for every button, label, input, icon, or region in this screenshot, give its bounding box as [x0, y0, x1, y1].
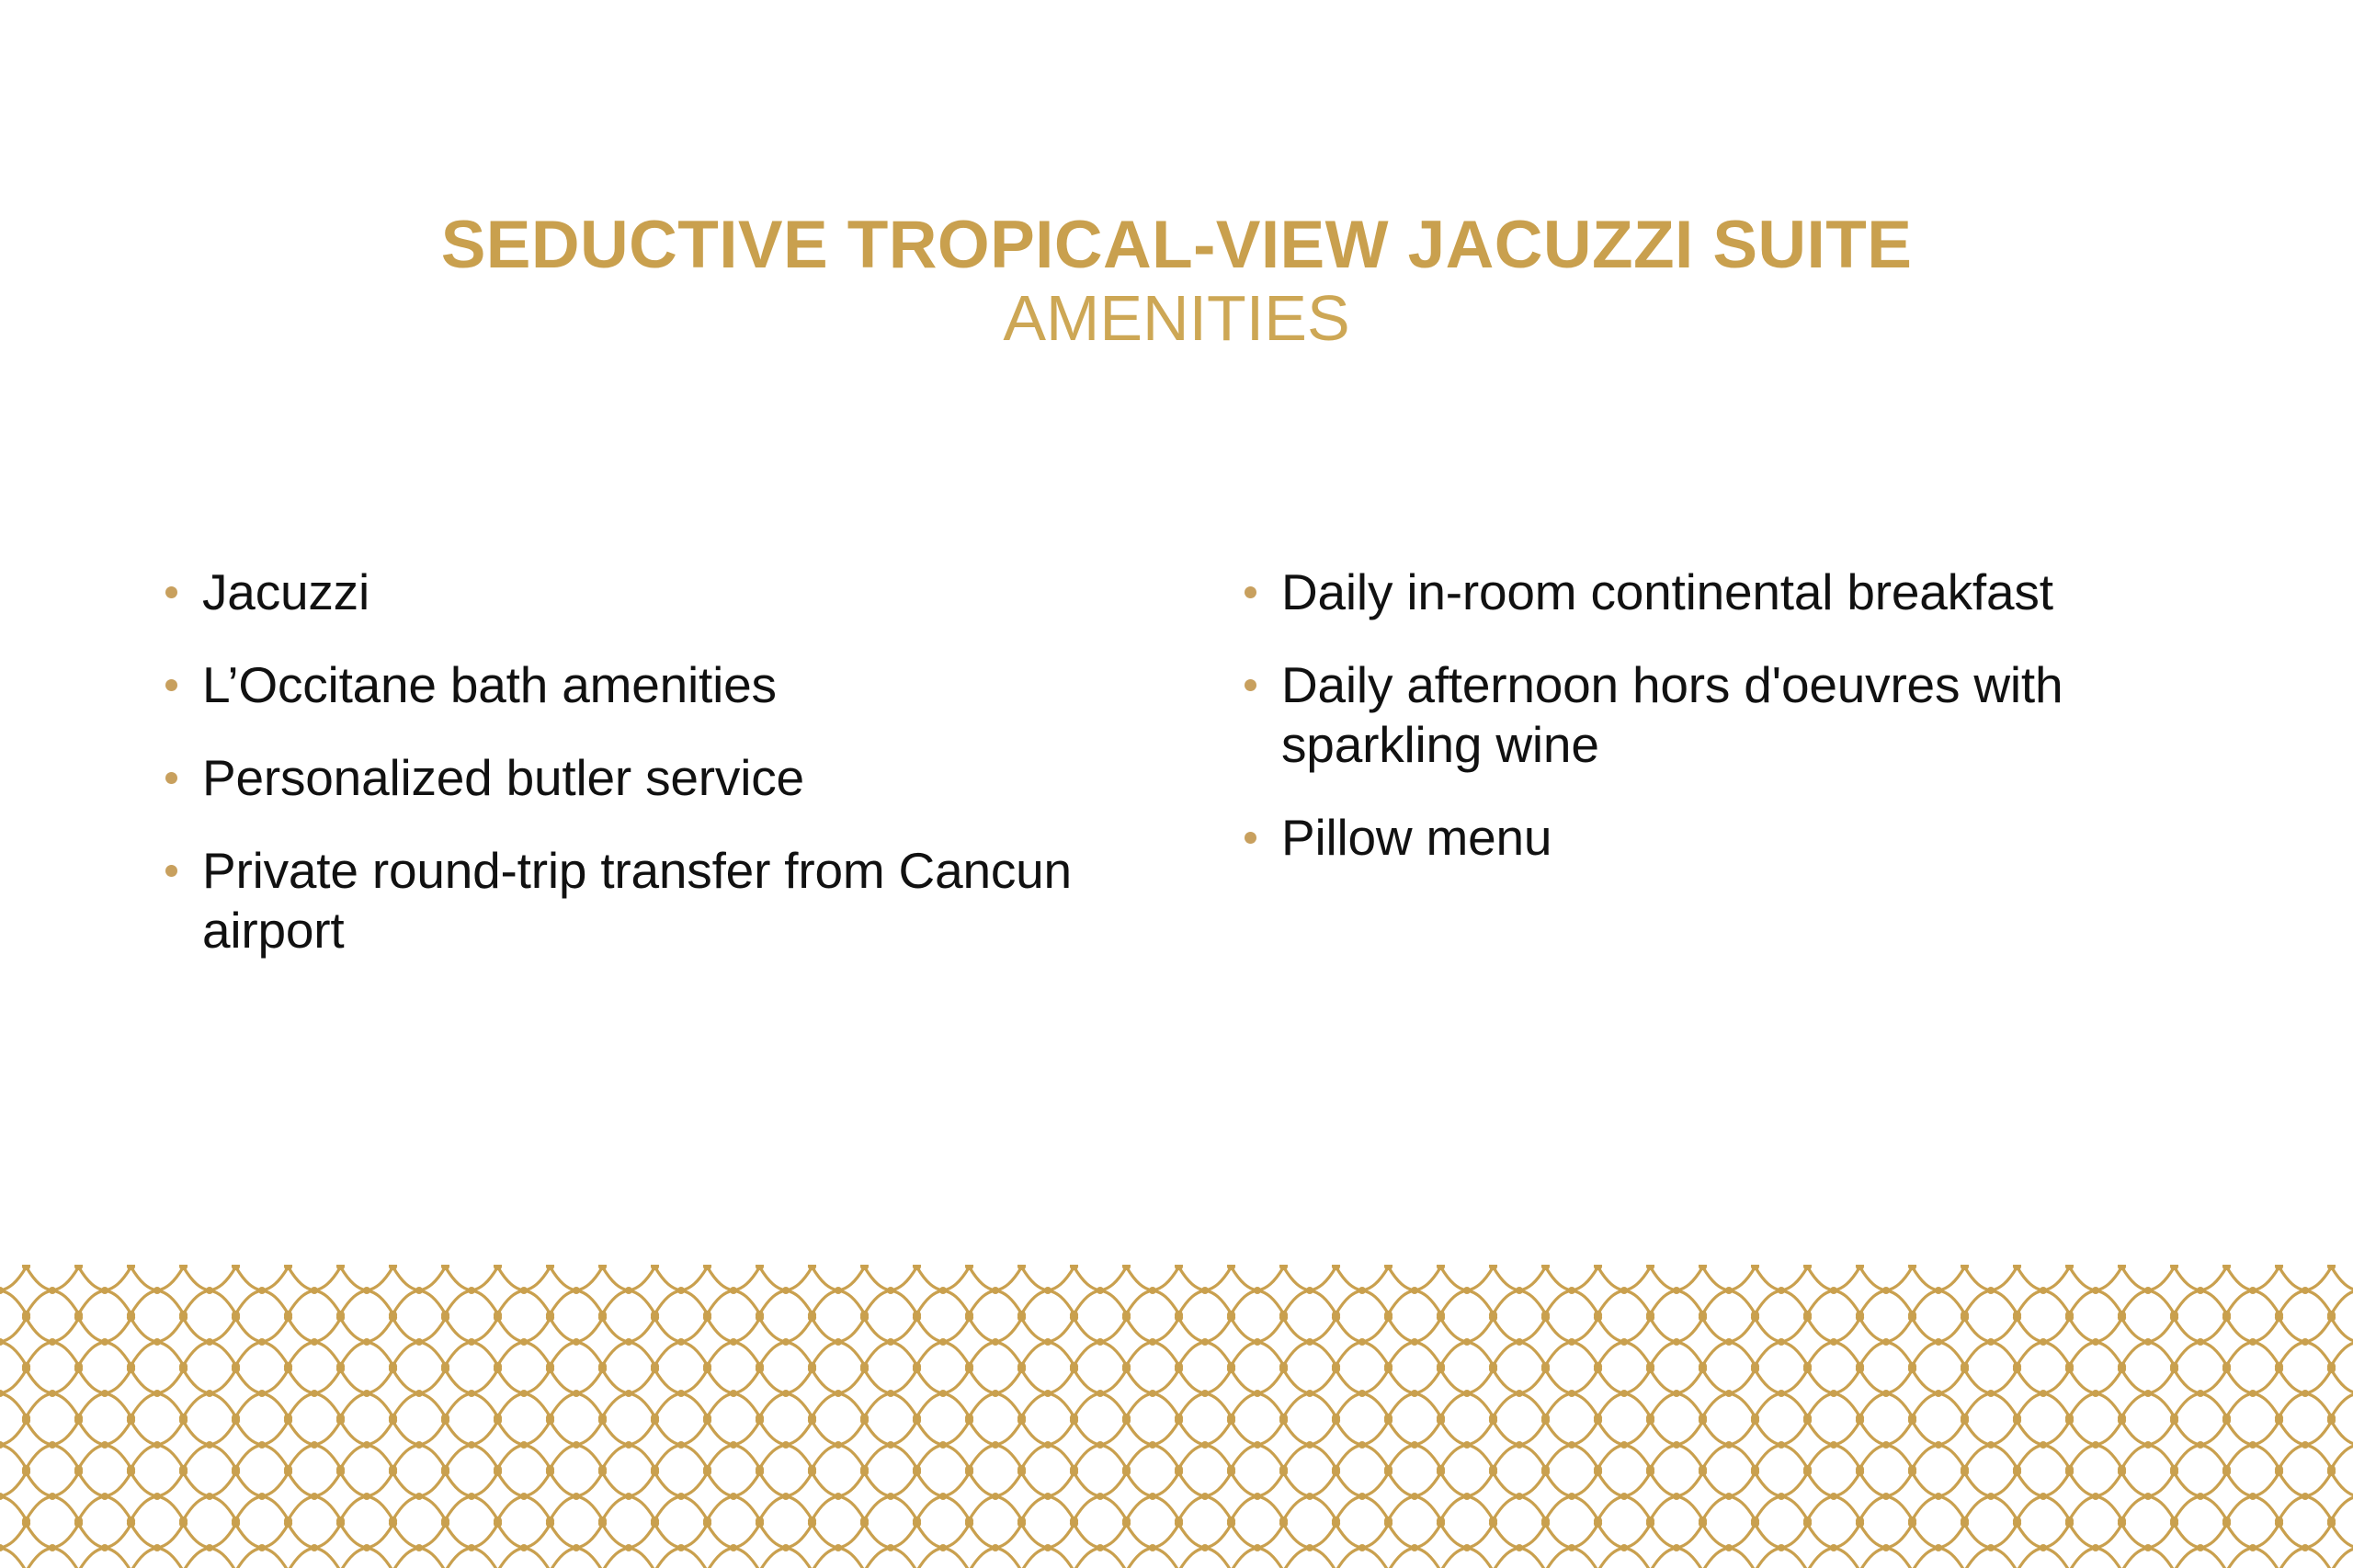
ornament-band — [0, 1265, 2353, 1568]
list-item: Pillow menu — [1243, 808, 2171, 868]
amenities-column-right: Daily in-room continental breakfast Dail… — [1243, 562, 2171, 868]
list-item-label: Jacuzzi — [202, 562, 1083, 622]
bullet-dot-icon — [165, 586, 177, 598]
list-item: L’Occitane bath amenities — [164, 655, 1083, 715]
slide-root: SEDUCTIVE TROPICAL-VIEW JACUZZI SUITE AM… — [0, 0, 2353, 1568]
amenities-columns: Jacuzzi L’Occitane bath amenities Person… — [0, 562, 2353, 1040]
title-block: SEDUCTIVE TROPICAL-VIEW JACUZZI SUITE AM… — [0, 210, 2353, 357]
bullet-dot-icon — [165, 772, 177, 784]
bullet-dot-icon — [1245, 679, 1256, 691]
list-item: Jacuzzi — [164, 562, 1083, 622]
bullet-dot-icon — [1245, 586, 1256, 598]
gold-ogee-lattice-icon — [0, 1265, 2353, 1568]
list-item-label: Daily afternoon hors d'oeuvres with spar… — [1281, 655, 2171, 775]
bullet-dot-icon — [165, 679, 177, 691]
list-item-label: L’Occitane bath amenities — [202, 655, 1083, 715]
page-title: SEDUCTIVE TROPICAL-VIEW JACUZZI SUITE — [0, 210, 2353, 280]
list-item: Personalized butler service — [164, 748, 1083, 808]
list-item-label: Daily in-room continental breakfast — [1281, 562, 2171, 622]
list-item-label: Pillow menu — [1281, 808, 2171, 868]
list-item: Daily afternoon hors d'oeuvres with spar… — [1243, 655, 2171, 775]
list-item-label: Personalized butler service — [202, 748, 1083, 808]
amenities-column-left: Jacuzzi L’Occitane bath amenities Person… — [164, 562, 1083, 960]
list-item: Daily in-room continental breakfast — [1243, 562, 2171, 622]
bullet-dot-icon — [1245, 832, 1256, 844]
list-item-label: Private round-trip transfer from Cancun … — [202, 841, 1083, 960]
list-item: Private round-trip transfer from Cancun … — [164, 841, 1083, 960]
bullet-dot-icon — [165, 865, 177, 877]
page-subtitle: AMENITIES — [0, 280, 2353, 357]
